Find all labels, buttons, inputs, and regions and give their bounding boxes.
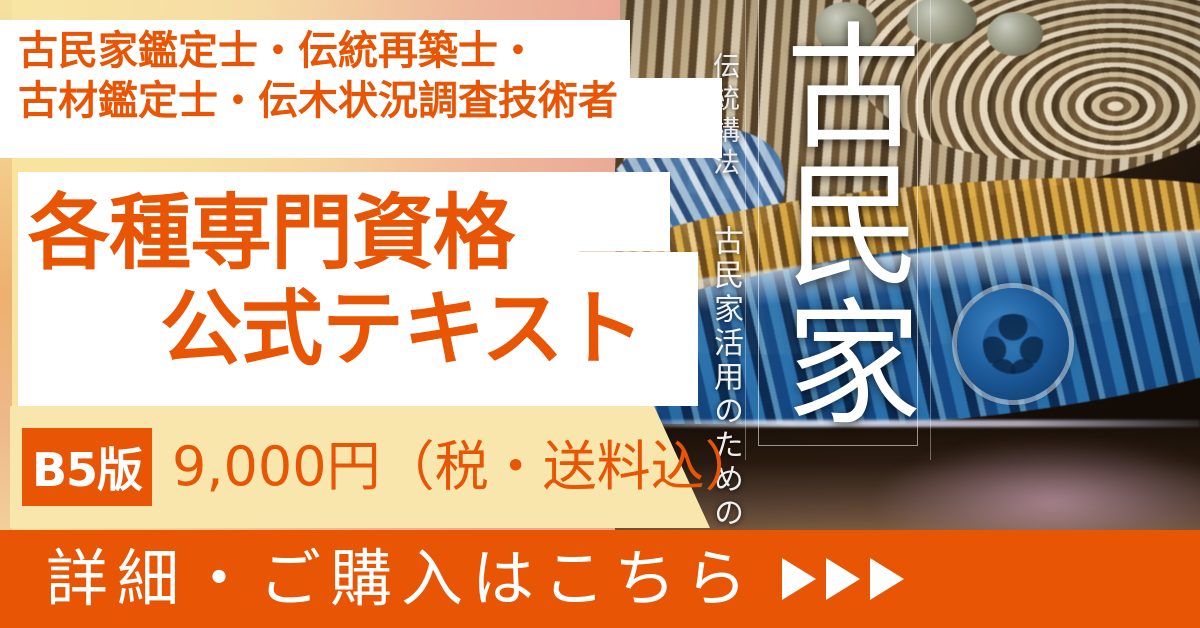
header-qualifications-line1: 古民家鑑定士・伝統再築士・ xyxy=(18,26,738,76)
cover-rule-right xyxy=(930,0,931,460)
promo-banner: 古民家 伝統構法 古民家活用のための調査と再生 古民家鑑定士・伝統再築士・ 古材… xyxy=(0,0,1200,628)
cta-label: 詳細・ご購入はこちら xyxy=(46,544,756,614)
top-gradient-strip xyxy=(0,0,620,22)
triangle-right-icon xyxy=(826,558,860,600)
cta-arrows xyxy=(782,558,904,600)
cta-bar[interactable]: 詳細・ご購入はこちら xyxy=(0,530,1200,628)
price-amount: 9,000円（税・送料込） xyxy=(172,432,759,502)
cover-title: 古民家 xyxy=(762,0,912,445)
headline-line2: 公式テキスト xyxy=(160,282,644,378)
triangle-right-icon xyxy=(870,558,904,600)
triangle-right-icon xyxy=(782,558,816,600)
headline-line1: 各種専門資格 xyxy=(28,186,514,282)
format-badge: B5版 xyxy=(22,428,152,506)
header-qualifications-line2: 古材鑑定士・伝木状況調査技術者 xyxy=(18,76,738,126)
